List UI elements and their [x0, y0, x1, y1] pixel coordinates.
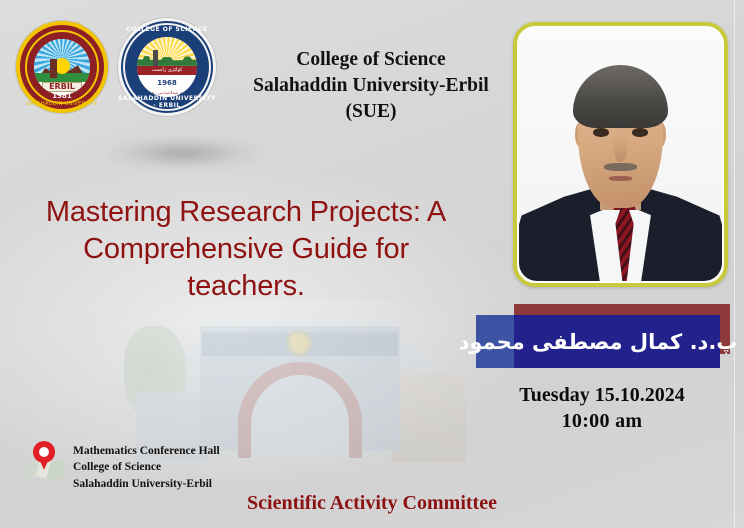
event-poster: زانكۆی سەلاحەددین ERBIL 1981 SALAHADDIN …	[0, 0, 744, 528]
speaker-name-label: پ.د. كمال مصطفى محمود	[476, 315, 720, 368]
logo-name-label: SALAHADDIN UNIVERSITY	[16, 101, 108, 107]
cos-bottom-label: زانكۆی سەلاحەددین ـ هەولێر	[137, 90, 197, 95]
venue-line-1: Mathematics Conference Hall	[73, 443, 220, 459]
salahaddin-university-logo: زانكۆی سەلاحەددین ERBIL 1981 SALAHADDIN …	[16, 21, 108, 113]
institution-header: College of Science Salahaddin University…	[236, 47, 506, 125]
logo-arabic-top-text: زانكۆی سەلاحەددین	[16, 21, 108, 27]
cos-arc-bottom-label: SALAHADDIN UNIVERSITY - ERBIL	[118, 95, 216, 109]
portrait-nose	[614, 137, 626, 162]
gate-right-building	[392, 374, 466, 462]
cos-emblem: كۆلێژی زانست 1968 زانكۆی سەلاحەددین ـ هە…	[137, 37, 197, 97]
header-line-3: (SUE)	[236, 99, 506, 125]
header-line-2: Salahaddin University-Erbil	[236, 73, 506, 99]
portrait-mouth	[609, 176, 631, 181]
gate-seal-icon	[286, 330, 312, 356]
event-venue: Mathematics Conference Hall College of S…	[24, 441, 220, 492]
speaker-photo	[519, 28, 722, 281]
cos-year-label: 1968	[137, 79, 197, 87]
college-of-science-logo: COLLEGE OF SCIENCE SALAHADDIN UNIVERSITY…	[118, 18, 216, 116]
logo-drop-shadow	[108, 138, 258, 168]
background-edge-line	[734, 0, 735, 528]
cos-arc-top-label: COLLEGE OF SCIENCE	[118, 26, 216, 33]
portrait-eye-right	[632, 128, 648, 137]
location-pin-icon	[24, 441, 66, 483]
cos-band-label: كۆلێژی زانست	[137, 66, 197, 76]
pin-marker-icon	[33, 441, 55, 471]
logo-citadel-icon	[50, 59, 57, 78]
header-line-1: College of Science	[236, 47, 506, 73]
speaker-name-banner: پ.د. كمال مصطفى محمود	[476, 312, 730, 368]
venue-line-3: Salahaddin University-Erbil	[73, 476, 220, 492]
venue-address: Mathematics Conference Hall College of S…	[73, 441, 220, 492]
event-date: Tuesday 15.10.2024	[478, 382, 726, 408]
event-time: 10:00 am	[478, 408, 726, 434]
portrait-eye-left	[593, 128, 609, 137]
speaker-photo-frame	[513, 22, 728, 287]
cos-red-band: كۆلێژی زانست	[137, 66, 197, 76]
portrait-hair	[573, 65, 668, 128]
venue-line-2: College of Science	[73, 459, 220, 475]
pin-hole	[39, 447, 49, 457]
event-datetime: Tuesday 15.10.2024 10:00 am	[478, 382, 726, 435]
event-title: Mastering Research Projects: A Comprehen…	[28, 194, 464, 305]
portrait-moustache	[604, 163, 636, 171]
logo-year-label: 1981	[16, 92, 108, 100]
organizer-footer: Scientific Activity Committee	[0, 492, 744, 515]
logo-city-label: ERBIL	[16, 82, 108, 91]
